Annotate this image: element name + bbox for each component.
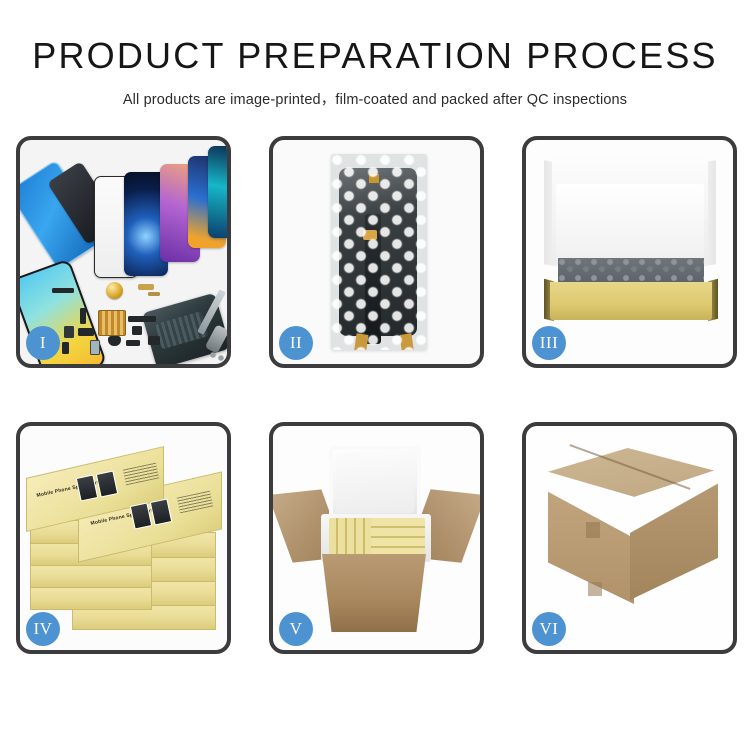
screws [210,352,226,362]
bubble-wrap-bag [331,154,427,350]
step-badge-5: V [279,612,313,646]
spare-part [148,292,160,296]
step-badge-1: I [26,326,60,360]
foam-box-lid [329,446,421,520]
steps-grid: I II [16,136,738,654]
carton-tape [588,582,602,596]
stacked-box [30,564,152,588]
spare-part [138,284,154,290]
step-panel-5[interactable]: V [269,422,484,654]
bubble-texture [331,154,427,350]
step-panel-6[interactable]: VI [522,422,737,654]
foam-pad [556,184,704,260]
step-badge-6: VI [532,612,566,646]
spare-part [52,288,74,293]
spare-part [90,340,100,355]
step-badge-4: IV [26,612,60,646]
spare-part [108,336,121,346]
yellow-inner-box [550,282,712,320]
spare-part [148,336,160,345]
step-panel-2[interactable]: II [269,136,484,368]
product-preparation-infographic: PRODUCT PREPARATION PROCESS All products… [0,0,750,750]
vibration-motor-part [106,282,123,299]
step-panel-1[interactable]: I [16,136,231,368]
step-badge-2: II [279,326,313,360]
page-title: PRODUCT PREPARATION PROCESS [0,38,750,74]
carton-body [315,554,433,632]
spare-part [126,340,140,346]
spare-part [78,328,94,336]
page-subtitle: All products are image-printed，film-coat… [0,88,750,109]
spare-part [62,342,69,354]
spare-part [64,326,74,338]
carton-tape [586,522,600,538]
header: PRODUCT PREPARATION PROCESS All products… [0,38,750,109]
carton-right-face [630,476,718,600]
stacked-box [30,586,152,610]
phone-screen-teal [208,146,227,238]
inner-boxes-row [371,518,425,556]
spare-part [132,326,142,335]
spare-part [80,308,86,324]
step-badge-3: III [532,326,566,360]
step-panel-4[interactable]: Mobile Phone Spare Parts Mobile Phone Sp… [16,422,231,654]
step-panel-3[interactable]: III [522,136,737,368]
spare-part [128,316,156,322]
gold-connector-chip [98,310,126,336]
